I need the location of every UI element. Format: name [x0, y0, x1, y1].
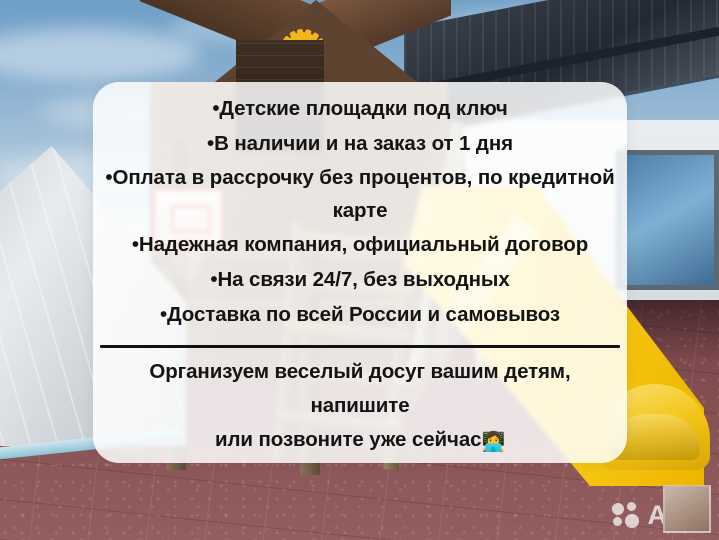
list-item-label: На связи 24/7, без выходных: [217, 268, 509, 291]
list-item: •Доставка по всей России и самовывоз: [160, 297, 560, 332]
cta-line-2: или позвоните уже сейчас: [215, 428, 481, 451]
avito-thumbnail: [663, 485, 711, 533]
offer-text-card: •Детские площадки под ключ •В наличии и …: [93, 82, 627, 463]
list-item-label: Оплата в рассрочку без процентов, по кре…: [112, 166, 614, 222]
benefit-list: •Детские площадки под ключ •В наличии и …: [101, 91, 619, 332]
list-item-label: Детские площадки под ключ: [219, 97, 507, 120]
list-item: •В наличии и на заказ от 1 дня: [207, 126, 513, 161]
list-item-label: В наличии и на заказ от 1 дня: [214, 132, 513, 155]
advertisement-image: •Детские площадки под ключ •В наличии и …: [0, 0, 719, 540]
list-item: •Надежная компания, официальный договор: [132, 227, 588, 262]
cta-line-1: Организуем веселый досуг вашим детям, на…: [149, 360, 570, 417]
avito-dots-icon: [612, 502, 642, 529]
list-item: •Детские площадки под ключ: [212, 91, 507, 126]
woman-technologist-icon: 👩‍💻: [481, 432, 505, 453]
house-window: [616, 150, 719, 290]
bullet-marker: •: [160, 303, 167, 326]
list-item-label: Доставка по всей России и самовывоз: [167, 303, 560, 326]
divider: [100, 345, 620, 348]
bullet-marker: •: [132, 233, 139, 256]
list-item-label: Надежная компания, официальный договор: [139, 233, 588, 256]
avito-watermark: Avito: [612, 500, 710, 531]
call-to-action: Организуем веселый досуг вашим детям, на…: [101, 355, 619, 460]
list-item: •На связи 24/7, без выходных: [210, 262, 509, 297]
list-item: •Оплата в рассрочку без процентов, по кр…: [101, 161, 619, 227]
